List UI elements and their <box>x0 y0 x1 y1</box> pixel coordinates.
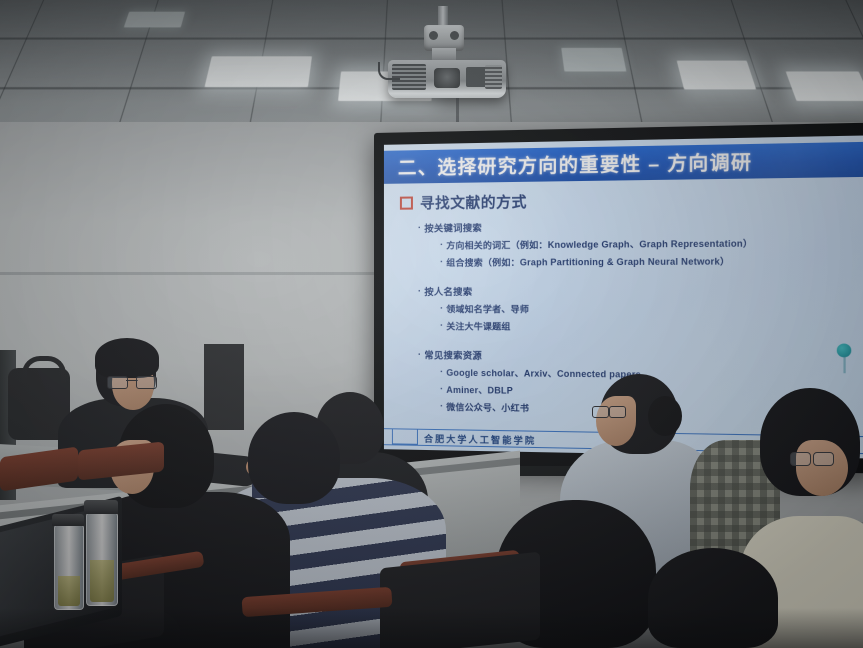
scene-vignette <box>0 0 863 648</box>
meeting-room-photo: 二、选择研究方向的重要性 – 方向调研 寻找文献的方式 ·按关键词搜索 ·方向相… <box>0 0 863 648</box>
